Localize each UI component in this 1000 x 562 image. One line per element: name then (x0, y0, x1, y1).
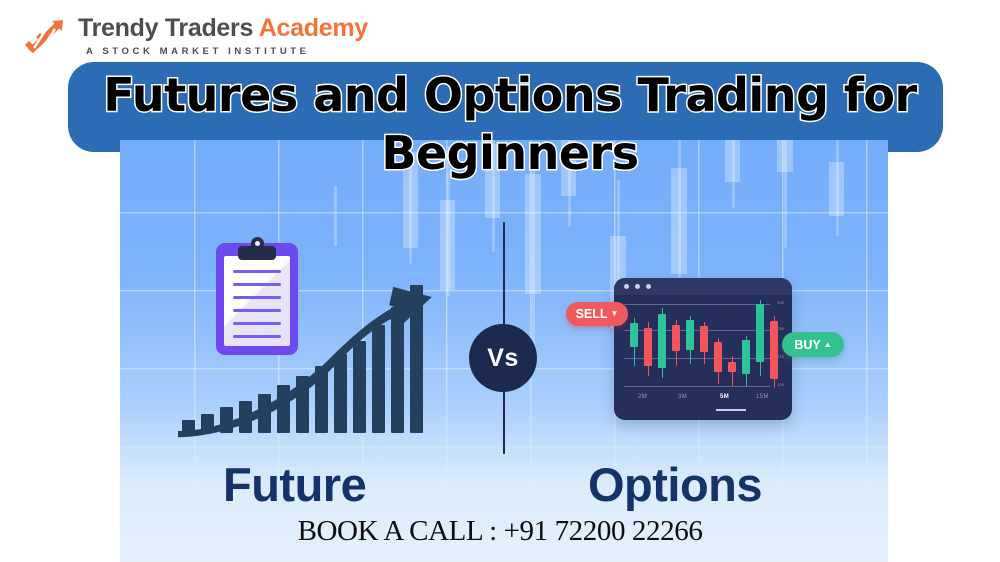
brand-name-primary: Trendy Traders (78, 14, 259, 42)
page-title: Futures and Options Trading for Beginner… (70, 66, 950, 182)
buy-label: BUY (794, 338, 820, 352)
sell-badge[interactable]: SELL ▼ (566, 302, 628, 326)
timeframe-selector[interactable]: 2M 3M 5M 15M (624, 394, 782, 412)
sell-label: SELL (576, 307, 608, 321)
price-tick: 250 (777, 327, 784, 331)
brand-name-accent: Academy (259, 14, 368, 42)
chevron-down-icon: ▼ (611, 310, 619, 318)
upward-trend-arrow-icon (176, 282, 444, 438)
label-future: Future (223, 457, 366, 512)
buy-badge[interactable]: BUY ▲ (782, 332, 844, 357)
window-dot (624, 284, 629, 289)
vs-badge: Vs (469, 324, 537, 392)
call-to-action-text[interactable]: BOOK A CALL : +91 72200 22266 (0, 515, 1000, 548)
brand-logo[interactable]: Trendy Traders Academy A STOCK MARKET IN… (22, 10, 352, 62)
timeframe-2m[interactable]: 2M (638, 394, 647, 400)
brand-name: Trendy Traders Academy (78, 14, 368, 43)
timeframe-active-underline (716, 409, 746, 411)
trend-arrow-icon (22, 18, 66, 54)
candlestick-chart: 300 250 210 100 (622, 298, 784, 390)
price-tick: 300 (777, 301, 784, 305)
price-tick: 210 (777, 355, 784, 359)
price-tick: 100 (777, 383, 784, 387)
timeframe-15m[interactable]: 15M (756, 394, 769, 400)
window-dot (635, 284, 640, 289)
hero-image-panel: 300 250 210 100 (120, 140, 888, 562)
window-titlebar (614, 278, 792, 295)
window-dot (646, 284, 651, 289)
brand-tagline: A STOCK MARKET INSTITUTE (86, 46, 310, 57)
timeframe-5m[interactable]: 5M (720, 394, 729, 400)
vs-label: Vs (487, 344, 519, 373)
trading-chart-window-icon[interactable]: 300 250 210 100 (614, 278, 792, 420)
label-options: Options (588, 457, 762, 512)
timeframe-3m[interactable]: 3M (678, 394, 687, 400)
chevron-up-icon: ▲ (824, 341, 832, 349)
